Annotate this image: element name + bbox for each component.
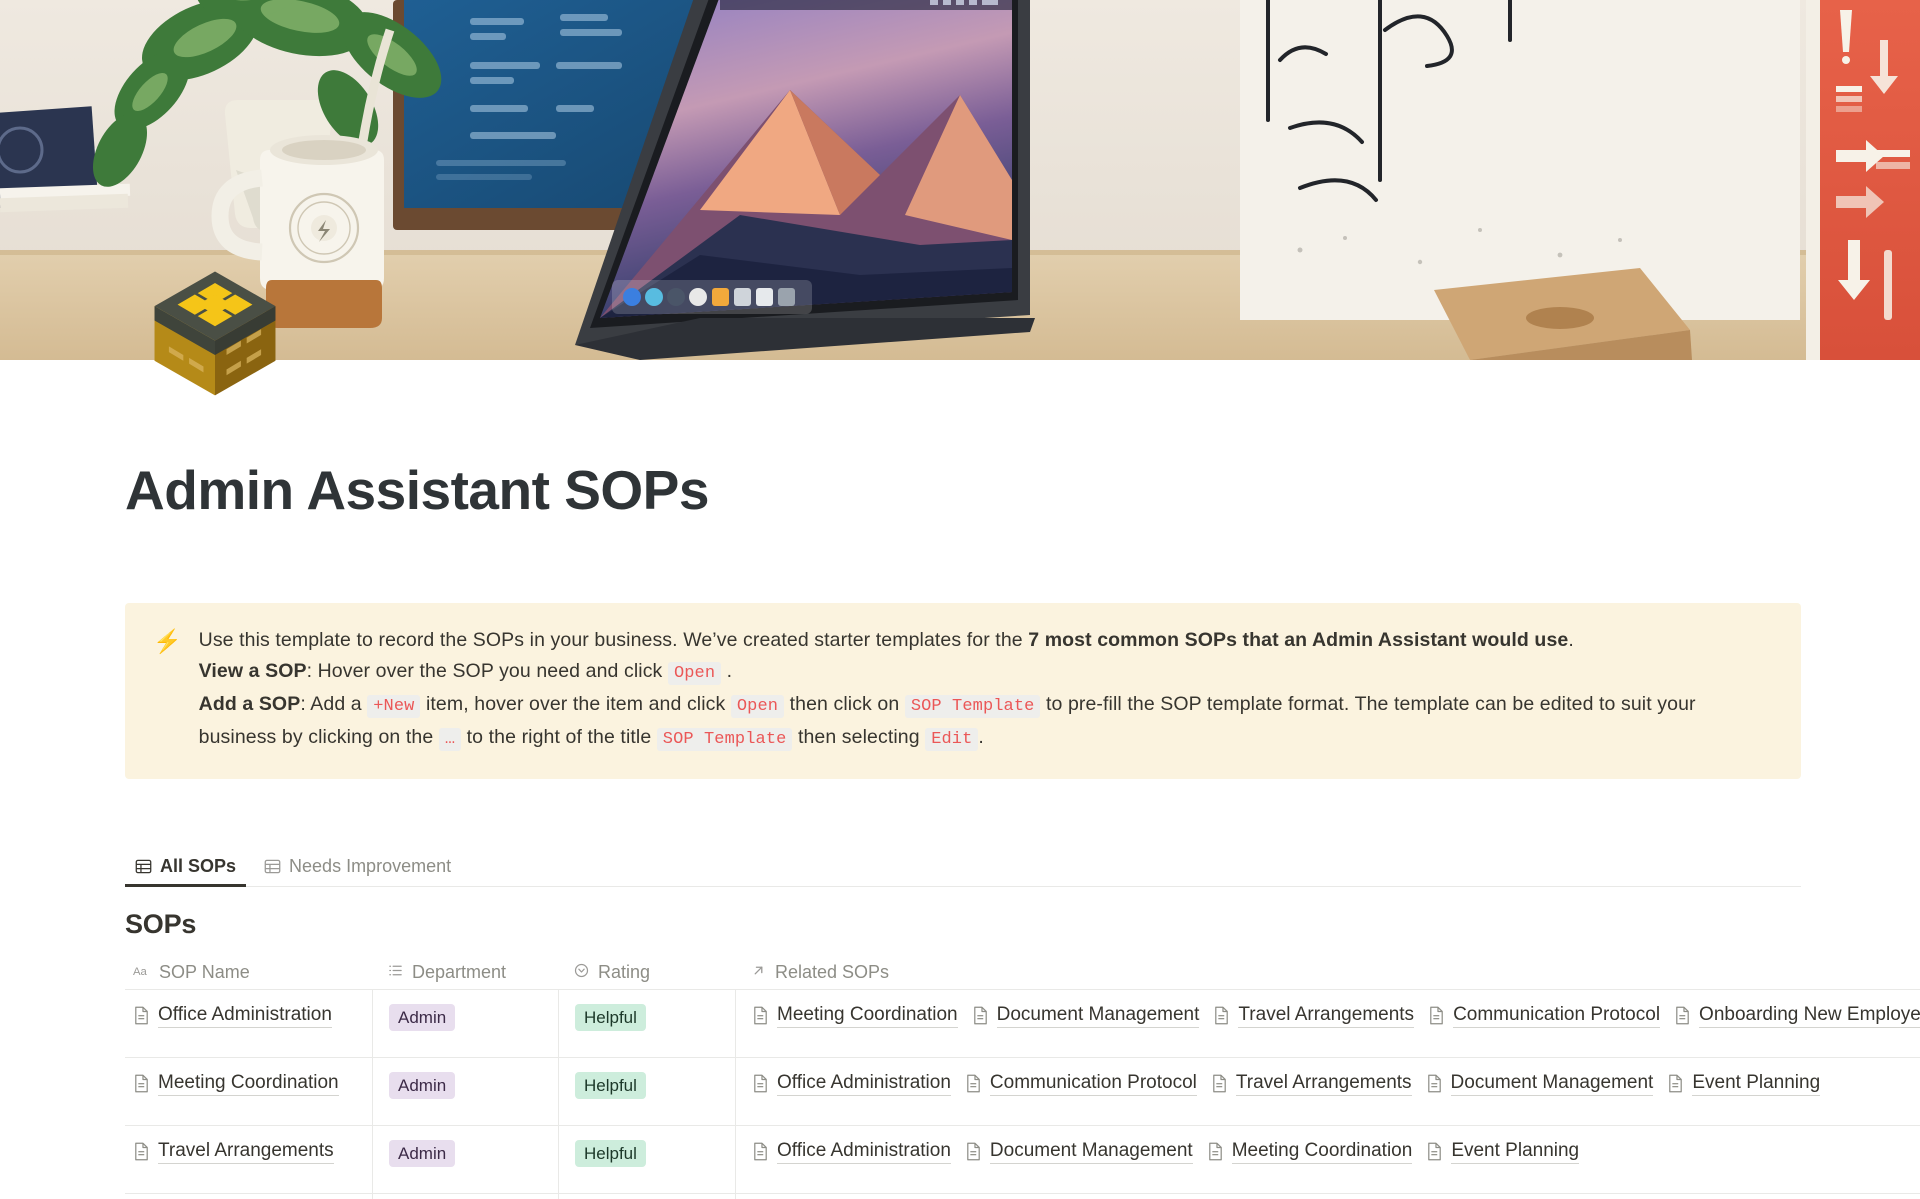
table-row[interactable]: Meeting CoordinationAdminHelpfulOffice A…	[125, 1058, 1920, 1126]
tab-needs-improvement[interactable]: Needs Improvement	[254, 856, 461, 886]
page-icon[interactable]	[143, 260, 287, 404]
table-row[interactable]: Office AdministrationAdminHelpfulMeeting…	[125, 990, 1920, 1058]
related-sop-link[interactable]: Meeting Coordination	[1207, 1140, 1413, 1164]
callout-line-2: View a SOP: Hover over the SOP you need …	[199, 656, 1773, 689]
column-header-department[interactable]: Department	[372, 956, 558, 989]
cell-department[interactable]: Admin	[372, 1194, 558, 1199]
department-tag: Admin	[389, 1004, 455, 1031]
related-sop-label: Office Administration	[777, 1140, 951, 1164]
cell-related-sops[interactable]: Office AdministrationCommunication Proto…	[735, 1058, 1920, 1125]
column-header-department-label: Department	[412, 962, 506, 983]
callout-l3-b: item, hover over the item and click	[420, 693, 730, 715]
callout-l3-f: then selecting	[792, 726, 925, 748]
callout-l3-bold: Add a SOP	[199, 693, 301, 715]
sop-name-link[interactable]: Travel Arrangements	[133, 1140, 334, 1164]
rating-tag: Helpful	[575, 1004, 646, 1031]
svg-text:Aa: Aa	[133, 965, 148, 977]
related-sop-label: Event Planning	[1451, 1140, 1579, 1164]
callout-l3-g: .	[978, 726, 984, 748]
callout-line-3: Add a SOP: Add a +New item, hover over t…	[199, 689, 1773, 755]
callout-l2-bold: View a SOP	[199, 660, 307, 682]
cell-sop-name[interactable]: Travel Arrangements	[125, 1126, 372, 1193]
callout-block: ⚡ Use this template to record the SOPs i…	[125, 603, 1801, 779]
related-sop-link[interactable]: Travel Arrangements	[1213, 1004, 1414, 1028]
callout-l2-b: .	[721, 660, 732, 682]
related-sop-link[interactable]: Document Management	[965, 1140, 1193, 1164]
callout-l3-c: then click on	[784, 693, 905, 715]
callout-l1-b: .	[1568, 629, 1574, 651]
related-sop-label: Office Administration	[777, 1072, 951, 1096]
related-sop-link[interactable]: Office Administration	[752, 1072, 951, 1096]
cell-rating[interactable]: Helpful	[558, 1194, 735, 1199]
related-sop-label: Meeting Coordination	[1232, 1140, 1413, 1164]
table-body: Office AdministrationAdminHelpfulMeeting…	[125, 990, 1920, 1199]
relation-icon	[751, 962, 766, 983]
column-header-sop-name-label: SOP Name	[159, 962, 250, 983]
cell-related-sops[interactable]: Meeting CoordinationDocument ManagementT…	[735, 990, 1920, 1057]
related-sop-link[interactable]: Document Management	[972, 1004, 1200, 1028]
table-row[interactable]: Document ManagementAdminHelpfulOffice Ad…	[125, 1194, 1920, 1199]
related-sop-label: Travel Arrangements	[1236, 1072, 1412, 1096]
related-sop-label: Event Planning	[1692, 1072, 1820, 1096]
cell-department[interactable]: Admin	[372, 1058, 558, 1125]
related-sop-link[interactable]: Meeting Coordination	[752, 1004, 958, 1028]
column-header-sop-name[interactable]: Aa SOP Name	[125, 956, 372, 989]
related-sop-label: Communication Protocol	[990, 1072, 1197, 1096]
select-icon	[574, 962, 589, 983]
page-title: Admin Assistant SOPs	[125, 460, 1800, 521]
related-sop-link[interactable]: Event Planning	[1426, 1140, 1579, 1164]
rating-tag: Helpful	[575, 1140, 646, 1167]
related-sop-link[interactable]: Onboarding New Employees	[1674, 1004, 1920, 1028]
isometric-cube-cross-icon	[143, 260, 287, 404]
related-sop-label: Travel Arrangements	[1238, 1004, 1414, 1028]
related-sop-label: Onboarding New Employees	[1699, 1004, 1920, 1028]
cell-rating[interactable]: Helpful	[558, 1126, 735, 1193]
callout-l1-bold: 7 most common SOPs that an Admin Assista…	[1028, 629, 1568, 651]
sops-table: Aa SOP Name Department	[125, 956, 1920, 1199]
related-sop-link[interactable]: Communication Protocol	[965, 1072, 1197, 1096]
database-title[interactable]: SOPs	[125, 909, 1800, 940]
table-icon	[264, 858, 281, 875]
tab-all-sops[interactable]: All SOPs	[125, 856, 246, 886]
callout-l3-e: to the right of the title	[461, 726, 657, 748]
callout-text: Use this template to record the SOPs in …	[199, 625, 1773, 755]
related-sop-label: Meeting Coordination	[777, 1004, 958, 1028]
sop-name-label: Meeting Coordination	[158, 1072, 339, 1096]
callout-l2-a: : Hover over the SOP you need and click	[307, 660, 668, 682]
cell-rating[interactable]: Helpful	[558, 1058, 735, 1125]
cover-image	[0, 0, 1920, 360]
cell-related-sops[interactable]: Office AdministrationDocument Management…	[735, 1126, 1920, 1193]
related-sop-link[interactable]: Communication Protocol	[1428, 1004, 1660, 1028]
page-content: Admin Assistant SOPs ⚡ Use this template…	[0, 460, 1920, 1199]
code-sop-template-1[interactable]: SOP Template	[905, 695, 1041, 718]
sop-name-label: Travel Arrangements	[158, 1140, 334, 1164]
cell-related-sops[interactable]: Office AdministrationMeeting Coordinatio…	[735, 1194, 1920, 1199]
sop-name-link[interactable]: Office Administration	[133, 1004, 332, 1028]
column-header-rating[interactable]: Rating	[558, 956, 735, 989]
tab-all-sops-label: All SOPs	[160, 856, 236, 877]
related-sop-label: Communication Protocol	[1453, 1004, 1660, 1028]
callout-line-1: Use this template to record the SOPs in …	[199, 625, 1773, 656]
related-sop-label: Document Management	[990, 1140, 1193, 1164]
related-sop-link[interactable]: Office Administration	[752, 1140, 951, 1164]
lightning-bolt-icon: ⚡	[153, 625, 182, 658]
code-open-2[interactable]: Open	[731, 695, 784, 718]
related-sop-link[interactable]: Travel Arrangements	[1211, 1072, 1412, 1096]
column-header-related-sops[interactable]: Related SOPs	[735, 956, 1920, 989]
callout-l1-a: Use this template to record the SOPs in …	[199, 629, 1029, 651]
related-sop-label: Document Management	[997, 1004, 1200, 1028]
related-sop-link[interactable]: Event Planning	[1667, 1072, 1820, 1096]
related-sop-label: Document Management	[1451, 1072, 1654, 1096]
column-header-related-sops-label: Related SOPs	[775, 962, 889, 983]
sop-name-link[interactable]: Meeting Coordination	[133, 1072, 339, 1096]
code-new[interactable]: +New	[367, 695, 420, 718]
tab-needs-improvement-label: Needs Improvement	[289, 856, 451, 877]
code-edit[interactable]: Edit	[925, 728, 978, 751]
table-icon	[135, 858, 152, 875]
multi-select-icon	[388, 962, 403, 983]
code-sop-template-2[interactable]: SOP Template	[657, 728, 793, 751]
cell-sop-name[interactable]: Document Management	[125, 1194, 372, 1199]
department-tag: Admin	[389, 1072, 455, 1099]
database-view-tabs: All SOPs Needs Improvement	[125, 845, 1801, 887]
code-open-1[interactable]: Open	[668, 662, 721, 685]
title-text-icon: Aa	[133, 962, 150, 983]
rating-tag: Helpful	[575, 1072, 646, 1099]
table-header-row: Aa SOP Name Department	[125, 956, 1920, 990]
related-sop-link[interactable]: Document Management	[1426, 1072, 1654, 1096]
column-header-rating-label: Rating	[598, 962, 650, 983]
code-ellipsis[interactable]: …	[439, 728, 461, 751]
cell-sop-name[interactable]: Office Administration	[125, 990, 372, 1057]
callout-l3-a: : Add a	[300, 693, 367, 715]
cell-sop-name[interactable]: Meeting Coordination	[125, 1058, 372, 1125]
sop-name-label: Office Administration	[158, 1004, 332, 1028]
cell-department[interactable]: Admin	[372, 1126, 558, 1193]
cover-photo-illustration	[0, 0, 1920, 360]
department-tag: Admin	[389, 1140, 455, 1167]
cell-department[interactable]: Admin	[372, 990, 558, 1057]
table-row[interactable]: Travel ArrangementsAdminHelpfulOffice Ad…	[125, 1126, 1920, 1194]
cell-rating[interactable]: Helpful	[558, 990, 735, 1057]
